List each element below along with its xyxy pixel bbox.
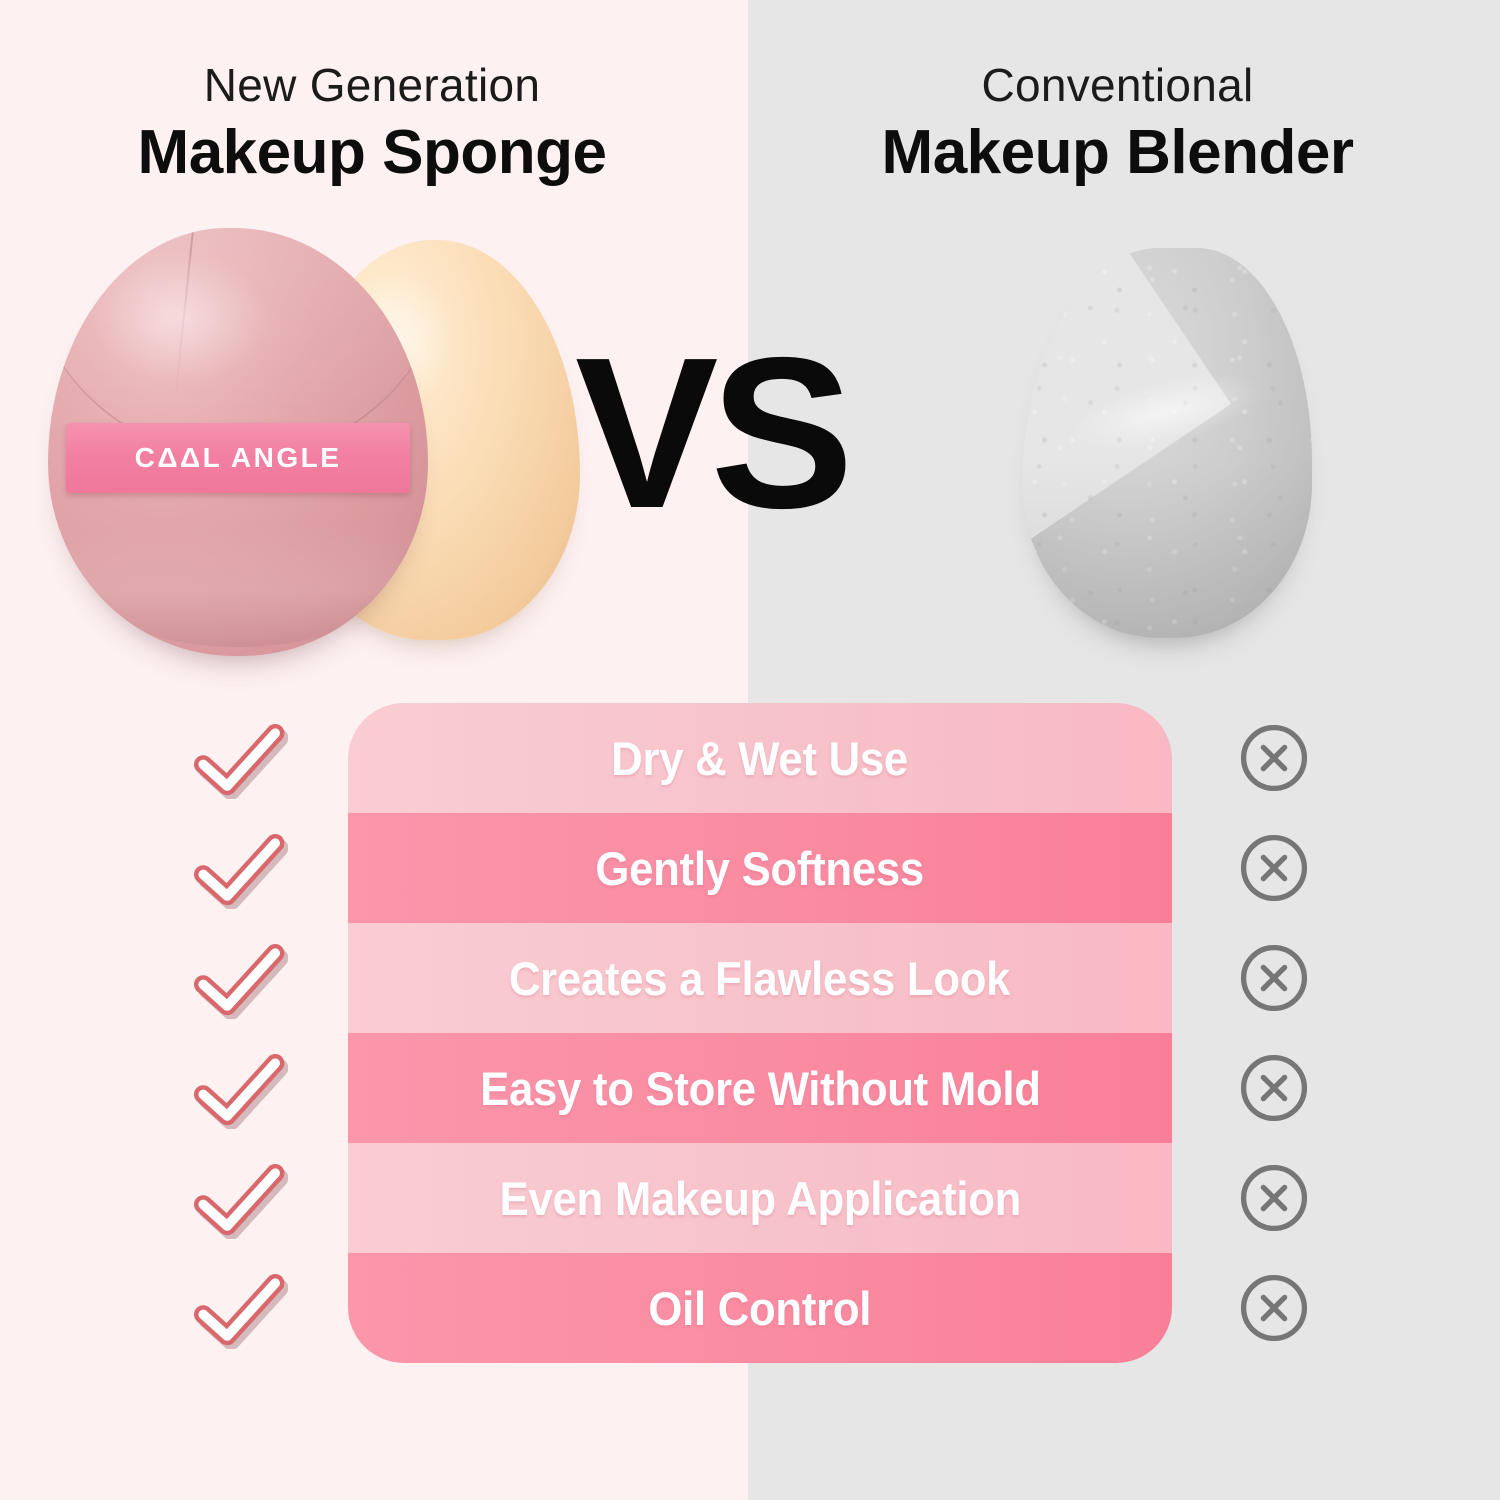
right-heading-sub: Conventional (790, 62, 1445, 108)
feature-label: Even Makeup Application (499, 1171, 1020, 1226)
cross-cell (1208, 1143, 1340, 1253)
right-heading-block: Conventional Makeup Blender (790, 62, 1445, 185)
cross-circle-icon (1236, 1160, 1312, 1236)
brand-ribbon: CΔΔL ANGLE (66, 423, 410, 493)
feature-label: Creates a Flawless Look (509, 951, 1010, 1006)
cross-circle-icon (1236, 720, 1312, 796)
cross-column (1208, 703, 1340, 1363)
blender-shadow (1022, 459, 1312, 638)
left-heading-sub: New Generation (22, 62, 722, 108)
feature-list-card: Dry & Wet UseGently SoftnessCreates a Fl… (348, 703, 1172, 1363)
check-icon (192, 1047, 288, 1129)
feature-row: Creates a Flawless Look (348, 923, 1172, 1033)
left-heading-block: New Generation Makeup Sponge (22, 62, 722, 185)
versus-label: VS (575, 325, 846, 540)
cross-cell (1208, 923, 1340, 1033)
check-cell (160, 1143, 320, 1253)
cross-cell (1208, 1253, 1340, 1363)
comparison-infographic: New Generation Makeup Sponge Conventiona… (0, 0, 1500, 1500)
check-icon (192, 1157, 288, 1239)
check-icon (192, 937, 288, 1019)
check-icon (192, 717, 288, 799)
feature-row: Even Makeup Application (348, 1143, 1172, 1253)
cross-circle-icon (1236, 940, 1312, 1016)
check-cell (160, 923, 320, 1033)
right-heading-main: Makeup Blender (790, 120, 1445, 185)
cross-circle-icon (1236, 1270, 1312, 1346)
makeup-blender-image (1010, 230, 1330, 650)
cross-circle-icon (1236, 830, 1312, 906)
check-cell (160, 1253, 320, 1363)
check-cell (160, 703, 320, 813)
sponge-highlight (94, 254, 269, 382)
feature-label: Dry & Wet Use (612, 731, 909, 786)
check-column (160, 703, 320, 1363)
cross-cell (1208, 1033, 1340, 1143)
feature-row: Gently Softness (348, 813, 1172, 923)
feature-label: Gently Softness (596, 841, 925, 896)
feature-row: Easy to Store Without Mold (348, 1033, 1172, 1143)
left-heading-main: Makeup Sponge (22, 120, 722, 185)
feature-row: Oil Control (348, 1253, 1172, 1363)
pink-puff-sponge: CΔΔL ANGLE (48, 228, 428, 656)
gray-blender-sponge (1022, 248, 1312, 638)
makeup-sponge-image: CΔΔL ANGLE (40, 218, 600, 688)
brand-name: CΔΔL ANGLE (135, 442, 342, 474)
cross-circle-icon (1236, 1050, 1312, 1126)
feature-label: Easy to Store Without Mold (480, 1061, 1041, 1116)
feature-label: Oil Control (649, 1281, 872, 1336)
check-cell (160, 1033, 320, 1143)
cross-cell (1208, 813, 1340, 923)
check-cell (160, 813, 320, 923)
check-icon (192, 827, 288, 909)
cross-cell (1208, 703, 1340, 813)
check-icon (192, 1267, 288, 1349)
feature-row: Dry & Wet Use (348, 703, 1172, 813)
